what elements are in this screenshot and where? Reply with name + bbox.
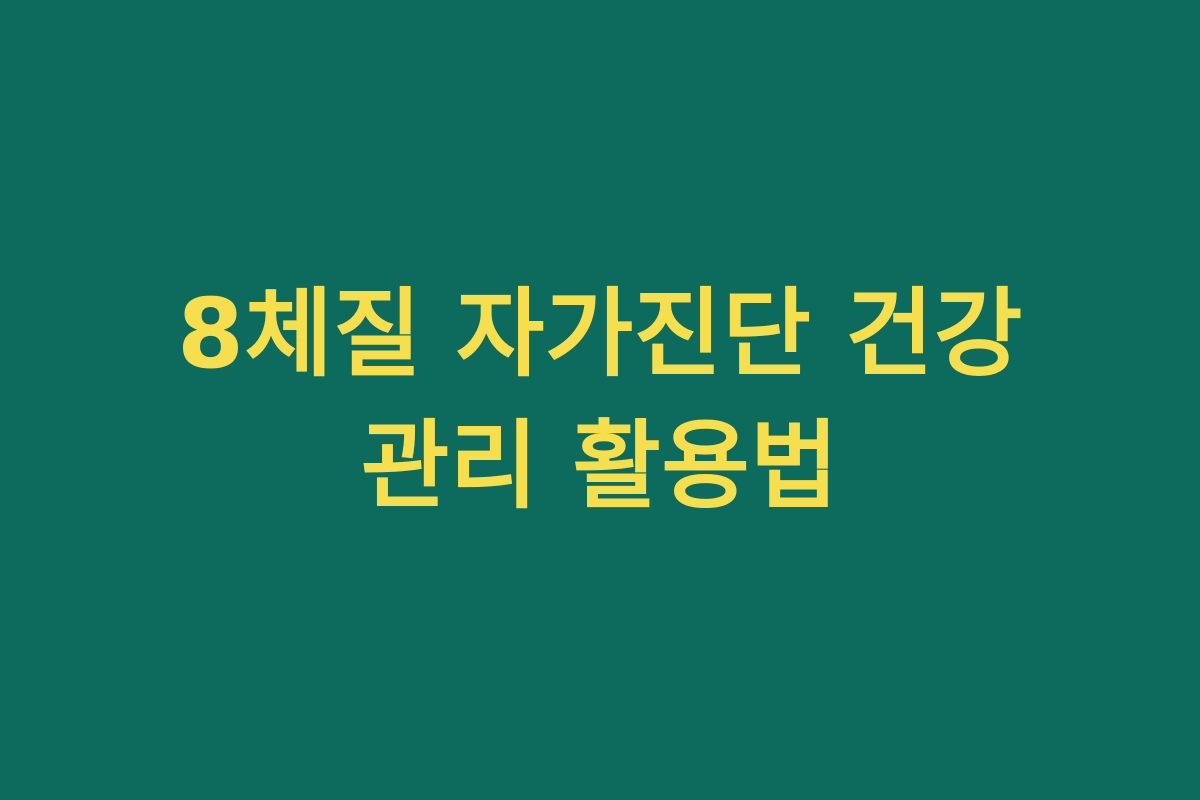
page-title: 8체질 자가진단 건강 관리 활용법 bbox=[104, 268, 1096, 533]
title-card: 8체질 자가진단 건강 관리 활용법 bbox=[0, 0, 1200, 800]
title-block: 8체질 자가진단 건강 관리 활용법 bbox=[100, 268, 1100, 533]
